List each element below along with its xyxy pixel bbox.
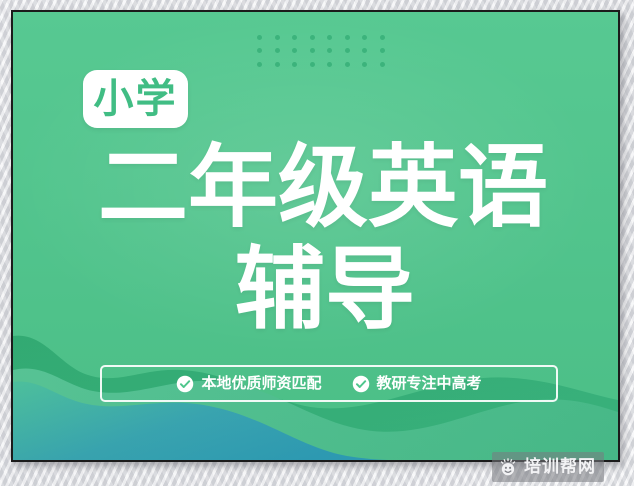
check-circle-icon <box>352 375 370 393</box>
feature-label-1: 本地优质师资匹配 <box>201 376 321 391</box>
dot-grid-icon <box>251 31 391 71</box>
poster-canvas: 小学 二年级英语 辅导 本地优质师资匹配 教研专注中高考 <box>0 0 634 486</box>
promo-card: 小学 二年级英语 辅导 本地优质师资匹配 教研专注中高考 <box>11 10 620 462</box>
feature-bar: 本地优质师资匹配 教研专注中高考 <box>100 365 558 402</box>
smiley-sun-logo-icon <box>498 457 518 477</box>
headline-line-2: 辅导 <box>235 245 415 335</box>
feature-item-1: 本地优质师资匹配 <box>176 375 321 393</box>
feature-label-2: 教研专注中高考 <box>377 376 482 391</box>
check-circle-icon <box>176 375 194 393</box>
watermark: 培训帮网 <box>492 452 604 482</box>
watermark-label: 培训帮网 <box>524 459 596 476</box>
headline-line-1: 二年级英语 <box>98 143 548 233</box>
feature-item-2: 教研专注中高考 <box>352 375 482 393</box>
grade-level-badge-label: 小学 <box>94 79 178 119</box>
grade-level-badge: 小学 <box>83 70 188 128</box>
